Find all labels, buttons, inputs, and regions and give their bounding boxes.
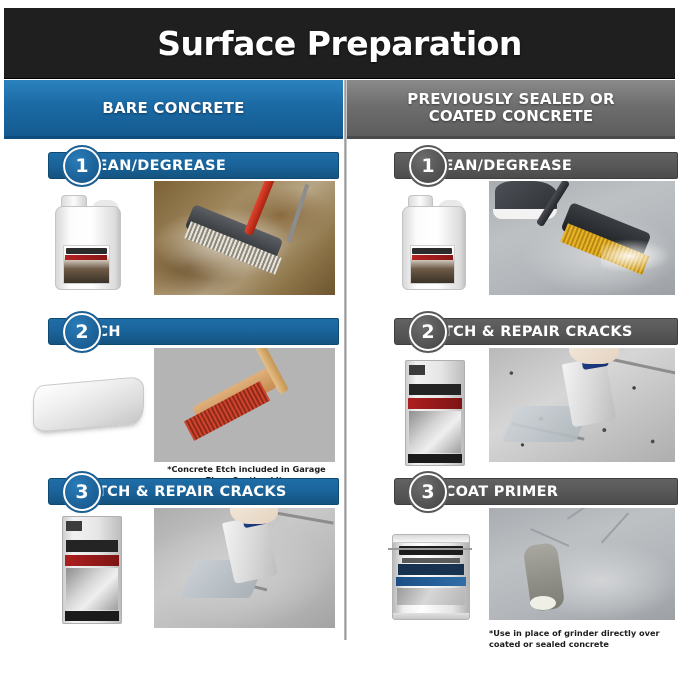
step-badge-sealed-3: 3 <box>409 473 447 511</box>
carton-footer-bar <box>408 454 461 463</box>
step-bar-sealed-3: 3 RECOAT PRIMER <box>394 478 678 505</box>
photo-sealed-1-clean-degrease <box>489 181 675 295</box>
carton-brand-bar <box>409 384 461 395</box>
footnote-sealed-3: *Use in place of grinder directly over c… <box>489 628 675 650</box>
column-label-bare-concrete: BARE CONCRETE <box>102 100 244 117</box>
brand-bar <box>412 248 452 253</box>
step-bar-sealed-1: 1 CLEAN/DEGREASE <box>394 152 678 179</box>
step-bar-bare-3: 3 PATCH & REPAIR CRACKS <box>48 478 339 505</box>
column-header-bare-concrete: BARE CONCRETE <box>4 80 343 139</box>
patch-carton <box>405 360 465 466</box>
step-number: 2 <box>421 323 434 342</box>
scene-coated-floor <box>489 508 675 620</box>
photo-bare-3-patch-cracks <box>154 508 335 628</box>
step-badge-bare-3: 3 <box>63 473 101 511</box>
infographic-root: Surface Preparation BARE CONCRETE PREVIO… <box>0 0 679 679</box>
column-label-line1: PREVIOUSLY SEALED OR <box>407 91 614 108</box>
product-image-cleaner-jug-sealed <box>397 190 475 290</box>
can-subtitle-bar <box>402 558 460 563</box>
photo-bare-1-clean-degrease <box>154 181 335 295</box>
can-base <box>393 613 469 619</box>
step-bar-sealed-2: 2 PATCH & REPAIR CRACKS <box>394 318 678 345</box>
can-claim-bar <box>396 577 466 586</box>
carton-photo <box>409 411 460 453</box>
page-title: Surface Preparation <box>157 24 522 63</box>
product-image-cleaner-jug-bare <box>50 190 130 290</box>
foam-suds <box>601 239 671 273</box>
column-header-previously-sealed: PREVIOUSLY SEALED OR COATED CONCRETE <box>347 80 675 139</box>
carton-brand-bar <box>66 540 118 552</box>
photo-sealed-2-patch-cracks <box>489 348 675 462</box>
can-bail-handle <box>388 548 473 550</box>
step-number: 3 <box>421 483 434 502</box>
step-badge-sealed-1: 1 <box>409 147 447 185</box>
step-badge-sealed-2: 2 <box>409 313 447 351</box>
step-badge-bare-1: 1 <box>63 147 101 185</box>
photo-sealed-3-recoat-primer <box>489 508 675 620</box>
step-number: 1 <box>421 157 434 176</box>
step-number: 1 <box>75 157 88 176</box>
column-label-previously-sealed: PREVIOUSLY SEALED OR COATED CONCRETE <box>407 91 614 125</box>
column-label-line2: COATED CONCRETE <box>407 108 614 125</box>
carton-footer-bar <box>65 611 118 621</box>
product-image-recoat-primer-can <box>386 526 474 624</box>
title-band: Surface Preparation <box>4 8 675 78</box>
jug-body <box>402 206 466 290</box>
can-photo-panel <box>397 588 465 605</box>
step-number: 2 <box>75 323 88 342</box>
step-number: 3 <box>75 483 88 502</box>
product-image-patch-box-bare <box>62 516 120 622</box>
product-image-etch-bag <box>28 372 146 438</box>
step-badge-bare-2: 2 <box>63 313 101 351</box>
jug-body <box>55 206 121 290</box>
red-band <box>412 255 453 260</box>
carton-top-bar <box>409 365 424 374</box>
carton-red-band <box>408 398 461 408</box>
carton-photo <box>66 568 117 610</box>
step-bar-bare-1: 1 CLEAN/DEGREASE <box>48 152 339 179</box>
jug-label <box>410 245 456 285</box>
patch-carton <box>62 516 122 624</box>
step-bar-bare-2: 2 ETCH <box>48 318 339 345</box>
step-title-bare-3: PATCH & REPAIR CRACKS <box>77 484 287 500</box>
red-band <box>65 255 107 260</box>
product-image-patch-box-sealed <box>405 360 463 464</box>
carton-red-band <box>65 555 118 566</box>
paint-roller-end-cap <box>530 596 556 610</box>
column-divider <box>344 80 347 640</box>
step-title-sealed-2: PATCH & REPAIR CRACKS <box>423 324 633 340</box>
can-rim <box>393 535 469 544</box>
carton-top-bar <box>66 521 81 531</box>
etch-bag <box>33 376 144 433</box>
can-title-bar <box>398 564 465 575</box>
photo-bare-2-etch <box>154 348 335 462</box>
jug-label <box>63 245 110 285</box>
brand-bar <box>66 248 107 253</box>
